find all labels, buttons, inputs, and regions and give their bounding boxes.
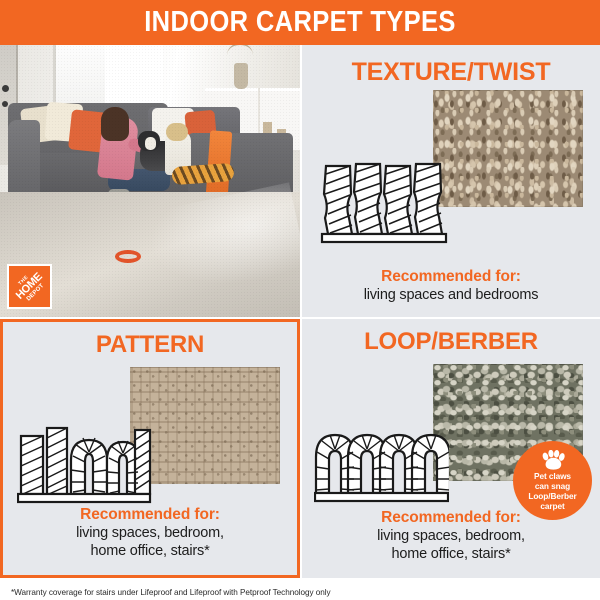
photo-door-latch (2, 101, 8, 107)
recommendation-texture-twist: Recommended for: living spaces and bedro… (302, 268, 600, 305)
photo-dog-ring-toy (115, 250, 141, 263)
pet-badge-line: Pet claws (528, 471, 576, 481)
panel-title-texture-twist: TEXTURE/TWIST (302, 58, 600, 87)
recommended-line: living spaces, bedroom, (3, 524, 297, 543)
page-title: INDOOR CARPET TYPES (144, 6, 456, 39)
photo-window-sheer (105, 45, 163, 105)
photo-child-hair (166, 123, 188, 141)
logo-text-block: THE HOME DEPOT (10, 267, 48, 305)
panel-grid: THE HOME DEPOT TEXTURE/TWIST (0, 45, 600, 578)
recommendation-pattern: Recommended for: living spaces, bedroom,… (3, 506, 297, 561)
pattern-carpet-swatch (130, 367, 280, 484)
recommended-label: Recommended for: (302, 268, 600, 286)
twisted-cut-pile-diagram (320, 160, 448, 248)
loop-pile-diagram (314, 427, 449, 507)
warranty-footnote: *Warranty coverage for stairs under Life… (11, 588, 331, 597)
recommended-label: Recommended for: (302, 509, 600, 527)
panel-lifestyle-photo: THE HOME DEPOT (0, 45, 300, 317)
pet-badge-text: Pet claws can snag Loop/Berber carpet (524, 471, 580, 511)
photo-dog-face (145, 137, 156, 150)
recommended-line: living spaces, bedroom, (302, 527, 600, 546)
cut-and-loop-pile-diagram (17, 420, 152, 508)
recommended-line: living spaces and bedrooms (302, 286, 600, 305)
header-banner: INDOOR CARPET TYPES (0, 0, 600, 45)
indoor-carpet-types-infographic: INDOOR CARPET TYPES (0, 0, 600, 600)
recommendation-loop-berber: Recommended for: living spaces, bedroom,… (302, 509, 600, 564)
recommended-line: home office, stairs* (3, 542, 297, 561)
panel-loop-berber[interactable]: LOOP/BERBER (302, 319, 600, 578)
paw-print-icon (540, 450, 566, 470)
panel-title-loop-berber: LOOP/BERBER (302, 328, 600, 356)
recommended-label: Recommended for: (3, 506, 297, 524)
living-room-photo: THE HOME DEPOT (0, 45, 300, 317)
panel-texture-twist[interactable]: TEXTURE/TWIST Recommended fo (302, 45, 600, 317)
recommended-line: home office, stairs* (302, 545, 600, 564)
pet-badge-line: Loop/Berber (528, 491, 576, 501)
photo-door-knob (2, 85, 9, 92)
pet-badge-line: can snag (528, 481, 576, 491)
panel-pattern[interactable]: PATTERN (0, 319, 300, 578)
panel-title-pattern: PATTERN (3, 331, 297, 359)
photo-woman-hair (101, 107, 129, 141)
the-home-depot-logo: THE HOME DEPOT (7, 264, 52, 309)
texture-twist-carpet-swatch (433, 90, 583, 207)
